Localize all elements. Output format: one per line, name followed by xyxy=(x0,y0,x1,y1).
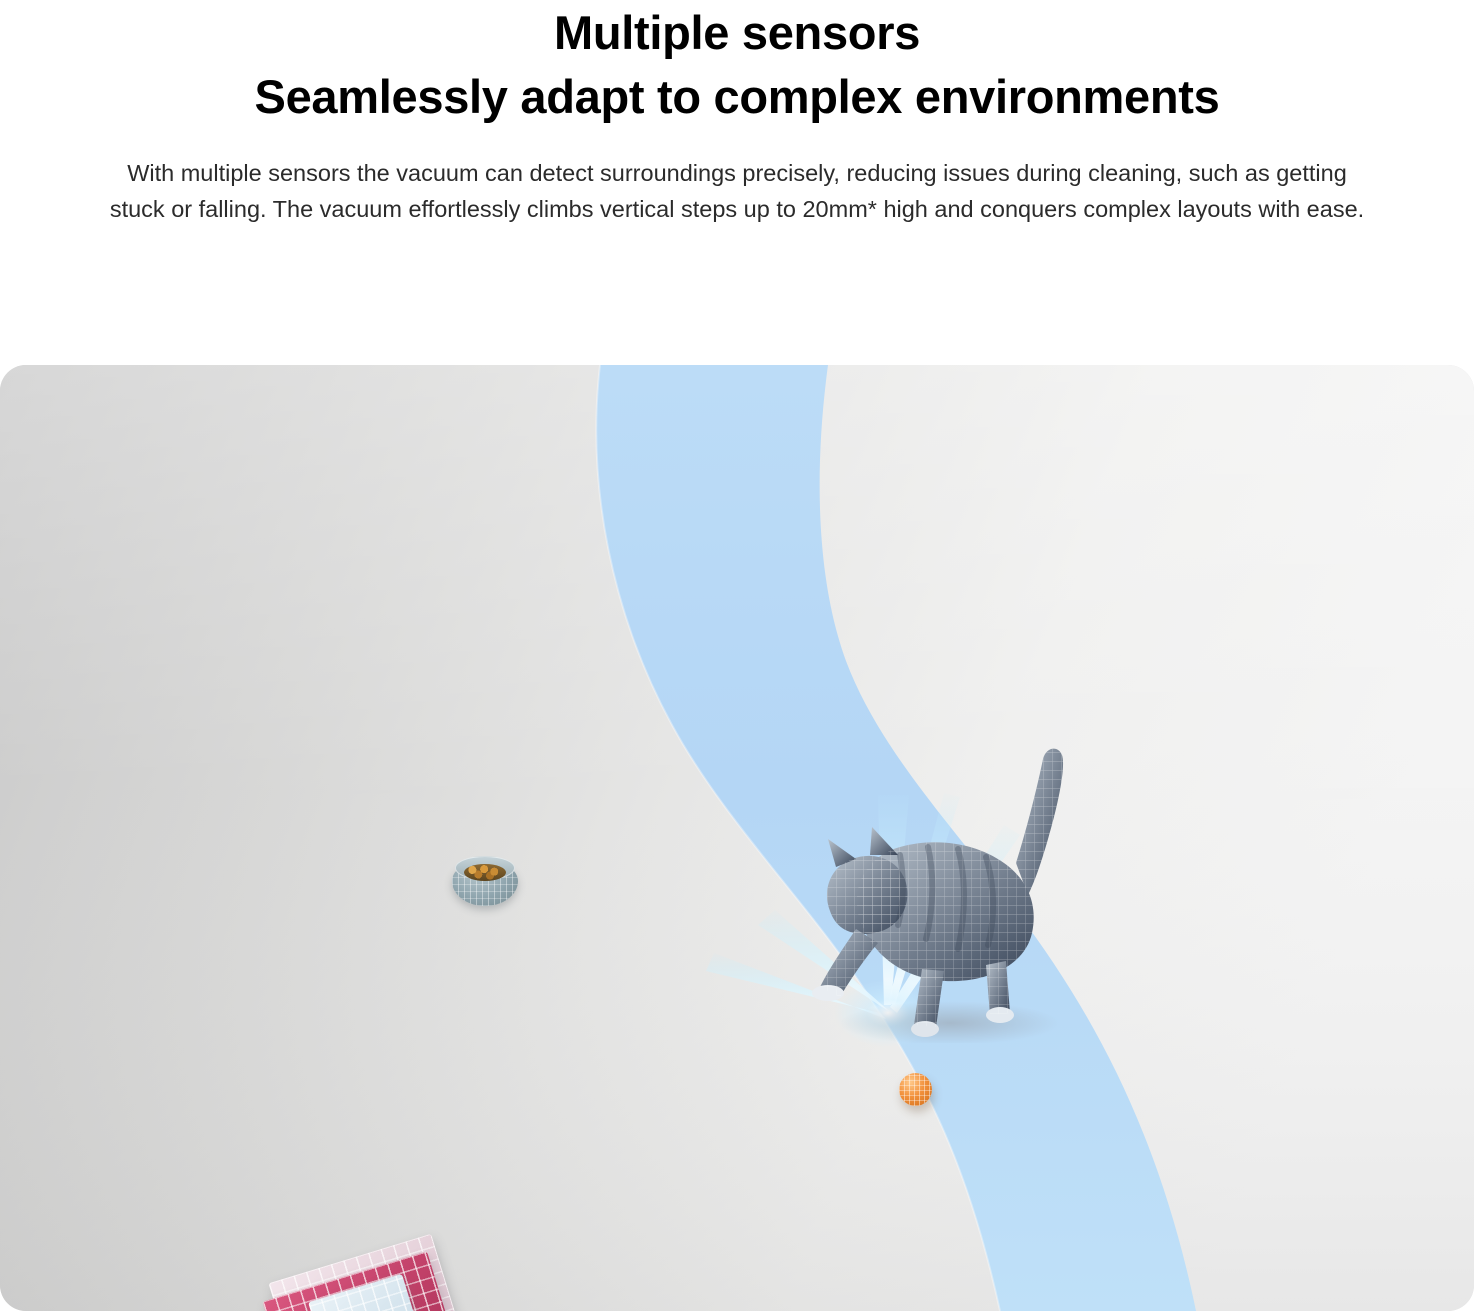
kibble xyxy=(464,864,506,881)
body-copy: With multiple sensors the vacuum can det… xyxy=(107,155,1367,227)
cat-shadow xyxy=(840,1001,1060,1043)
headline-primary: Multiple sensors xyxy=(0,4,1474,61)
toy-ball xyxy=(899,1073,932,1106)
headline-secondary: Seamlessly adapt to complex environments xyxy=(0,67,1474,127)
heading-block: Multiple sensors Seamlessly adapt to com… xyxy=(0,0,1474,227)
book-stack xyxy=(272,1250,502,1311)
cat xyxy=(800,743,1100,1043)
cat-wireframe-overlay xyxy=(820,749,1063,1027)
scene-backdrop xyxy=(0,365,1474,1311)
page-root: Multiple sensors Seamlessly adapt to com… xyxy=(0,0,1474,1311)
pet-food-bowl xyxy=(452,854,518,910)
hero-image-panel: XIAOMI xyxy=(0,365,1474,1311)
